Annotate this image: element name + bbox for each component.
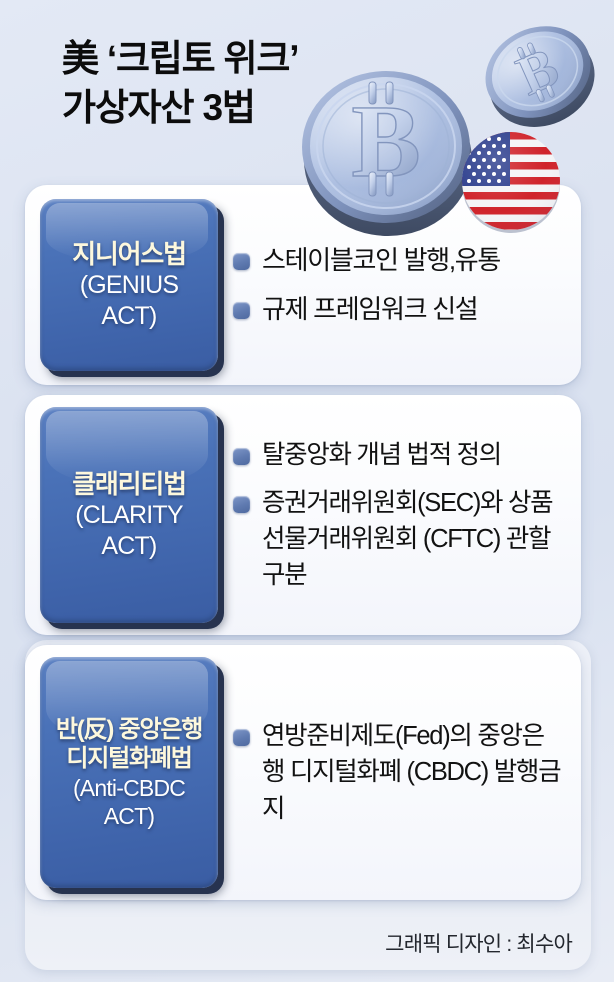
svg-text:B: B	[351, 84, 420, 199]
law-row-clarity: 클래리티법 (CLARITY ACT) 탈중앙화 개념 법적 정의 증권거래위원…	[25, 395, 581, 635]
law-label-en-line1: (CLARITY	[72, 500, 186, 531]
law-label-en-line2: ACT)	[72, 301, 186, 332]
list-item: 탈중앙화 개념 법적 정의	[233, 437, 563, 473]
svg-text:B: B	[508, 36, 567, 108]
law-row-genius: 지니어스법 (GENIUS ACT) 스테이블코인 발행,유통 규제 프레임워크…	[25, 185, 581, 385]
bullet-text: 증권거래위원회(SEC)와 상품선물거래위원회 (CFTC) 관할 구분	[262, 485, 563, 594]
law-label-en-line1: (GENIUS	[72, 270, 186, 301]
law-bullet-list: 연방준비제도(Fed)의 중앙은행 디지털화폐 (CBDC) 발행금지	[233, 645, 563, 900]
law-label-en-line2: ACT)	[72, 531, 186, 562]
law-label-en-line1: (Anti-CBDC	[46, 774, 212, 802]
bullet-text: 스테이블코인 발행,유통	[262, 242, 500, 279]
bullet-dot-icon	[233, 729, 250, 746]
bullet-text: 탈중앙화 개념 법적 정의	[262, 437, 501, 473]
bullet-text: 규제 프레임워크 신설	[262, 291, 477, 328]
law-label-genius[interactable]: 지니어스법 (GENIUS ACT)	[40, 199, 218, 371]
bullet-dot-icon	[233, 496, 250, 513]
bullet-text: 연방준비제도(Fed)의 중앙은행 디지털화폐 (CBDC) 발행금지	[262, 718, 563, 827]
law-label-en-line2: ACT)	[46, 802, 212, 830]
list-item: 규제 프레임워크 신설	[233, 291, 563, 328]
page-title-line1: 美 ‘크립토 위크’	[62, 38, 298, 79]
law-row-anti-cbdc: 반(反) 중앙은행 디지털화폐법 (Anti-CBDC ACT) 연방준비제도(…	[25, 645, 581, 900]
law-bullet-list: 스테이블코인 발행,유통 규제 프레임워크 신설	[233, 185, 563, 385]
law-label-clarity[interactable]: 클래리티법 (CLARITY ACT)	[40, 407, 218, 623]
law-label-ko: 반(反) 중앙은행 디지털화폐법	[46, 715, 212, 774]
law-label-ko: 지니어스법	[72, 239, 186, 271]
list-item: 연방준비제도(Fed)의 중앙은행 디지털화폐 (CBDC) 발행금지	[233, 718, 563, 827]
list-item: 증권거래위원회(SEC)와 상품선물거래위원회 (CFTC) 관할 구분	[233, 485, 563, 594]
infographic-page: 美 ‘크립토 위크’ 가상자산 3법	[0, 0, 614, 982]
bullet-dot-icon	[233, 448, 250, 465]
law-bullet-list: 탈중앙화 개념 법적 정의 증권거래위원회(SEC)와 상품선물거래위원회 (C…	[233, 395, 563, 635]
bullet-dot-icon	[233, 302, 250, 319]
bitcoin-coin-small-icon: B	[471, 10, 610, 143]
page-title-line2: 가상자산 3법	[62, 83, 298, 132]
page-title: 美 ‘크립토 위크’ 가상자산 3법	[62, 34, 298, 132]
law-label-anti-cbdc[interactable]: 반(反) 중앙은행 디지털화폐법 (Anti-CBDC ACT)	[40, 657, 218, 888]
credit-line: 그래픽 디자인 : 최수아	[385, 928, 572, 958]
list-item: 스테이블코인 발행,유통	[233, 242, 563, 279]
bullet-dot-icon	[233, 253, 250, 270]
law-label-ko: 클래리티법	[72, 469, 186, 501]
